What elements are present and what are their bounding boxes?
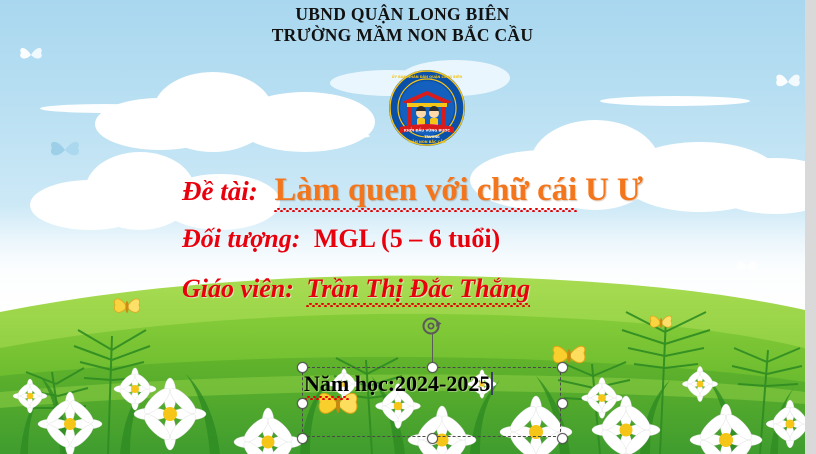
topic-value-letters: U Ư	[585, 172, 643, 208]
teacher-label: Giáo viên:	[182, 274, 294, 303]
topic-line: Đề tài: Làm quen với chữ cáiU Ư	[182, 172, 643, 209]
svg-text:MẦM NON BẮC CẦU: MẦM NON BẮC CẦU	[408, 139, 445, 144]
butterfly-white-midright	[670, 160, 690, 176]
butterfly-blue-left	[48, 136, 82, 164]
header-line-2: TRƯỜNG MẦM NON BẮC CẦU	[0, 25, 805, 46]
school-year-textbox[interactable]: Năm học:2024-2025	[302, 367, 561, 437]
resize-handle-bottom-left[interactable]	[297, 433, 308, 444]
resize-handle-top-middle[interactable]	[427, 362, 438, 373]
cloud-streak-3	[250, 132, 370, 140]
presentation-slide: UBND QUẬN LONG BIÊN TRƯỜNG MẦM NON BẮC C…	[0, 0, 816, 454]
audience-value: MGL (5 – 6 tuổi)	[314, 224, 500, 253]
topic-label: Đề tài:	[182, 176, 258, 206]
resize-handle-top-right[interactable]	[557, 362, 568, 373]
svg-text:KHỞI ĐẦU VỮNG BƯỚC: KHỞI ĐẦU VỮNG BƯỚC	[404, 128, 450, 133]
audience-label: Đối tượng:	[182, 224, 300, 253]
topic-value-underlined: Làm quen với chữ cái	[274, 172, 577, 209]
cloud-streak-2	[600, 96, 750, 106]
butterfly-yellow-nearbox	[550, 340, 588, 370]
butterfly-yellow-left	[112, 294, 142, 320]
svg-text:ỦY BAN NHÂN DÂN QUẬN LONG BIÊN: ỦY BAN NHÂN DÂN QUẬN LONG BIÊN	[392, 74, 463, 79]
school-logo: ỦY BAN NHÂN DÂN QUẬN LONG BIÊN MẦM NON B…	[388, 69, 466, 147]
teacher-line: Giáo viên: Trần Thị Đắc Thắng	[182, 274, 530, 304]
school-year-text-underlined: Năm	[304, 371, 349, 397]
school-year-text-rest: học:2024-2025	[349, 371, 490, 396]
resize-handle-bottom-middle[interactable]	[427, 433, 438, 444]
page-header: UBND QUẬN LONG BIÊN TRƯỜNG MẦM NON BẮC C…	[0, 4, 805, 46]
resize-handle-middle-right[interactable]	[557, 398, 568, 409]
teacher-value: Trần Thị Đắc Thắng	[306, 274, 530, 304]
cloud-streak-1	[40, 104, 170, 113]
butterfly-yellow-right	[648, 312, 674, 334]
resize-handle-bottom-right[interactable]	[557, 433, 568, 444]
svg-text:TRƯỜNG: TRƯỜNG	[424, 134, 440, 139]
right-gutter	[805, 0, 816, 454]
butterfly-white-topright	[774, 70, 802, 94]
school-year-text: Năm học:2024-2025	[304, 371, 493, 397]
rotate-handle-icon[interactable]	[420, 315, 444, 339]
butterfly-white-topleft	[18, 44, 44, 66]
resize-handle-top-left[interactable]	[297, 362, 308, 373]
text-cursor	[491, 372, 493, 395]
resize-handle-middle-left[interactable]	[297, 398, 308, 409]
header-line-1: UBND QUẬN LONG BIÊN	[0, 4, 805, 25]
audience-line: Đối tượng: MGL (5 – 6 tuổi)	[182, 224, 500, 254]
